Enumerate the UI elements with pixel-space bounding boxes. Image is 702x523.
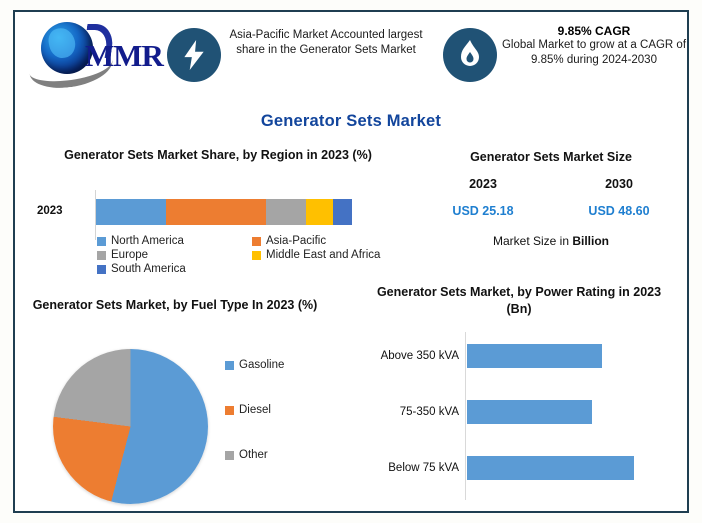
legend-swatch-icon <box>225 406 234 415</box>
chart-fuel-type-title: Generator Sets Market, by Fuel Type In 2… <box>25 297 325 314</box>
fuel-legend-item[interactable]: Other <box>225 449 284 461</box>
region-chart-category-label: 2023 <box>37 205 63 217</box>
power-rating-label: Above 350 kVA <box>355 350 467 362</box>
chart-power-rating: Generator Sets Market, by Power Rating i… <box>355 284 687 514</box>
fuel-type-legend: GasolineDieselOther <box>225 359 284 494</box>
infographic-frame: MMR Asia-Pacific Market Accounted larges… <box>13 10 689 513</box>
region-stacked-bar <box>96 199 352 225</box>
header-highlight-0: Asia-Pacific Market Accounted largest sh… <box>167 20 427 90</box>
power-rating-label: Below 75 kVA <box>355 462 467 474</box>
market-size-value-2023: USD 25.18 <box>423 204 543 218</box>
legend-swatch-icon <box>225 451 234 460</box>
chart-fuel-type: Generator Sets Market, by Fuel Type In 2… <box>25 297 365 512</box>
legend-swatch-icon <box>252 237 261 246</box>
power-rating-plot: Above 350 kVA75-350 kVABelow 75 kVA <box>355 332 687 502</box>
power-rating-label: 75-350 kVA <box>355 406 467 418</box>
legend-swatch-icon <box>225 361 234 370</box>
header-highlight-1-text: Global Market to grow at a CAGR of 9.85%… <box>501 38 687 68</box>
header-highlight-0-text: Asia-Pacific Market Accounted largest sh… <box>227 28 425 58</box>
brand-name: MMR <box>85 38 163 74</box>
header-highlight-1-title: 9.85% CAGR <box>501 24 687 38</box>
fuel-legend-label: Diesel <box>239 404 271 416</box>
flame-icon <box>443 28 497 82</box>
market-size-years-row: 2023 2030 <box>415 177 687 191</box>
market-size-panel: Generator Sets Market Size 2023 2030 USD… <box>415 150 687 270</box>
page-title: Generator Sets Market <box>15 112 687 131</box>
chart-power-rating-title: Generator Sets Market, by Power Rating i… <box>369 284 669 318</box>
market-size-year-2030: 2030 <box>559 177 679 191</box>
market-size-note-unit: Billion <box>572 234 609 248</box>
market-size-values-row: USD 25.18 USD 48.60 <box>415 204 687 218</box>
region-legend-label: Middle East and Africa <box>266 249 380 261</box>
fuel-legend-item[interactable]: Gasoline <box>225 359 284 371</box>
region-segment-2 <box>266 199 306 225</box>
header-highlight-1: 9.85% CAGR Global Market to grow at a CA… <box>443 20 687 90</box>
region-legend-item[interactable]: North America <box>97 235 252 247</box>
region-segment-3 <box>306 199 333 225</box>
region-legend-item[interactable]: Europe <box>97 249 252 261</box>
power-rating-row: 75-350 kVA <box>355 400 687 424</box>
legend-swatch-icon <box>252 251 261 260</box>
region-legend-label: North America <box>111 235 184 247</box>
region-legend-label: Europe <box>111 249 148 261</box>
region-segment-4 <box>333 199 352 225</box>
market-size-value-2030: USD 48.60 <box>559 204 679 218</box>
region-legend-label: Asia-Pacific <box>266 235 326 247</box>
power-rating-row: Below 75 kVA <box>355 456 687 480</box>
market-size-note-prefix: Market Size in <box>493 234 572 248</box>
fuel-legend-label: Other <box>239 449 268 461</box>
legend-swatch-icon <box>97 237 106 246</box>
legend-swatch-icon <box>97 251 106 260</box>
market-size-title: Generator Sets Market Size <box>415 150 687 164</box>
power-rating-bar <box>467 344 602 368</box>
region-segment-0 <box>96 199 166 225</box>
market-size-year-2023: 2023 <box>423 177 543 191</box>
power-rating-bar <box>467 456 634 480</box>
fuel-legend-label: Gasoline <box>239 359 284 371</box>
region-legend-label: South America <box>111 263 186 275</box>
legend-swatch-icon <box>97 265 106 274</box>
header-band: MMR Asia-Pacific Market Accounted larges… <box>15 12 687 94</box>
region-chart-legend: North AmericaAsia-PacificEuropeMiddle Ea… <box>97 235 407 275</box>
power-rating-row: Above 350 kVA <box>355 344 687 368</box>
market-size-note: Market Size in Billion <box>415 234 687 248</box>
chart-region-share-title: Generator Sets Market Share, by Region i… <box>53 147 383 164</box>
region-legend-item[interactable]: Asia-Pacific <box>252 235 407 247</box>
fuel-type-pie <box>53 349 208 504</box>
fuel-legend-item[interactable]: Diesel <box>225 404 284 416</box>
region-segment-1 <box>166 199 266 225</box>
lightning-bolt-icon <box>167 28 221 82</box>
brand-logo: MMR <box>23 16 155 78</box>
power-rating-bar <box>467 400 592 424</box>
region-legend-item[interactable]: Middle East and Africa <box>252 249 407 261</box>
chart-region-share: Generator Sets Market Share, by Region i… <box>25 147 415 282</box>
region-legend-item[interactable]: South America <box>97 263 252 275</box>
